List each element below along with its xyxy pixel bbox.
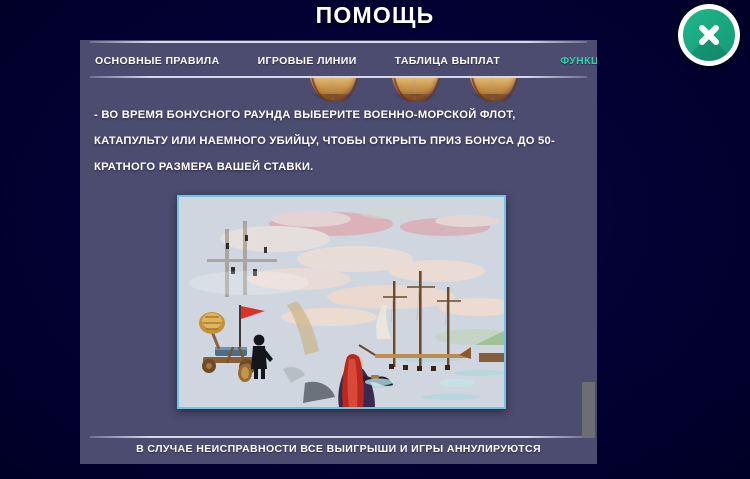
close-button[interactable] — [678, 4, 740, 66]
tab-bar: ОСНОВНЫЕ ПРАВИЛА ИГРОВЫЕ ЛИНИИ ТАБЛИЦА В… — [80, 48, 597, 74]
close-x-icon — [694, 20, 724, 50]
tab-game-lines[interactable]: ИГРОВЫЕ ЛИНИИ — [258, 55, 357, 67]
scrollbar-thumb[interactable] — [582, 382, 595, 438]
shield-decoration-3 — [468, 78, 518, 102]
divider-above-footer — [90, 436, 587, 438]
help-screen: ПОМОЩЬ ОСНОВНЫЕ ПРАВИЛА ИГРОВЫЕ ЛИНИИ ТА… — [0, 0, 750, 479]
page-title: ПОМОЩЬ — [0, 2, 750, 29]
close-button-disc — [683, 9, 735, 61]
bonus-round-illustration: 0%" stop-color="#d6e0dd"/> 30%" stop-col… — [177, 195, 506, 409]
malfunction-notice: В СЛУЧАЕ НЕИСПРАВНОСТИ ВСЕ ВЫИГРЫШИ И ИГ… — [80, 443, 597, 455]
shield-decoration-1 — [308, 78, 358, 102]
tab-paytable[interactable]: ТАБЛИЦА ВЫПЛАТ — [395, 55, 501, 67]
tab-features[interactable]: ФУНКЦИИ — [560, 55, 597, 67]
feature-description: - ВО ВРЕМЯ БОНУСНОГО РАУНДА ВЫБЕРИТЕ ВОЕ… — [94, 102, 574, 180]
shield-decoration-2 — [390, 78, 440, 102]
scrollbar-track[interactable] — [582, 80, 595, 436]
help-panel: ОСНОВНЫЕ ПРАВИЛА ИГРОВЫЕ ЛИНИИ ТАБЛИЦА В… — [80, 40, 597, 464]
tab-basic-rules[interactable]: ОСНОВНЫЕ ПРАВИЛА — [95, 55, 220, 67]
bonus-round-scene: 0%" stop-color="#d6e0dd"/> 30%" stop-col… — [179, 197, 504, 407]
divider-top — [90, 41, 587, 43]
